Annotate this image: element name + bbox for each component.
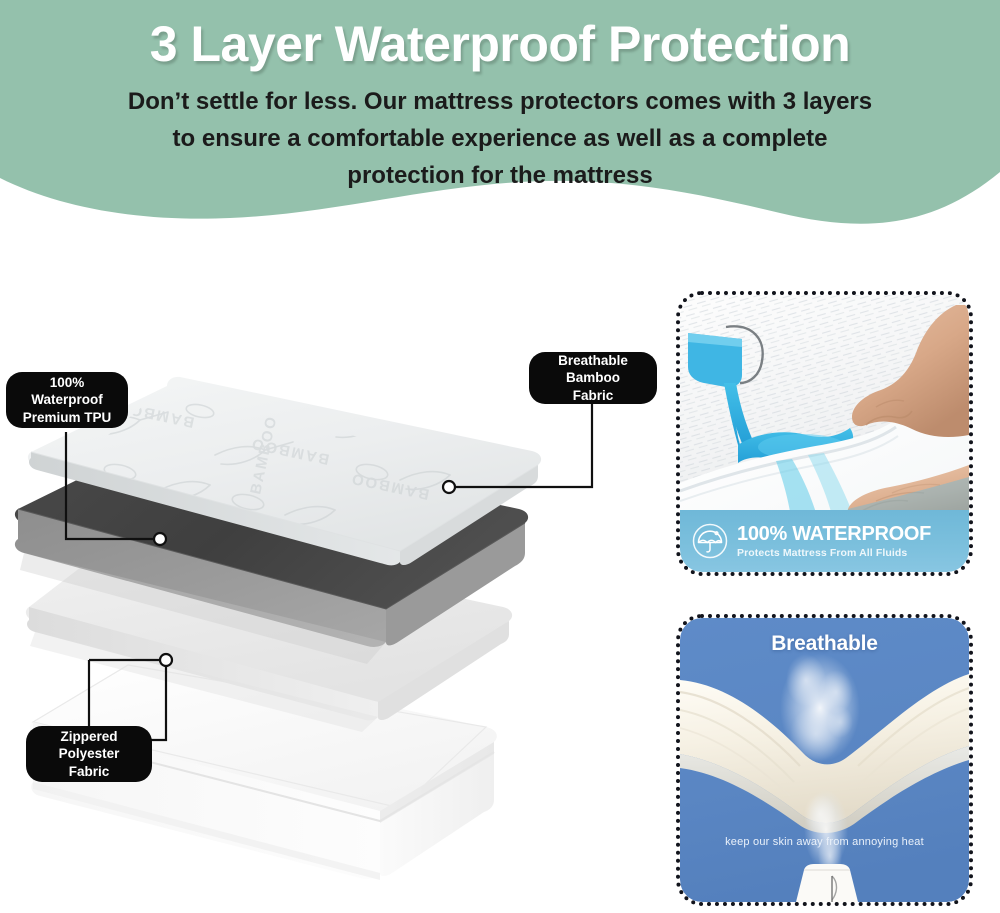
subtitle-line-1: Don’t settle for less. Our mattress prot… xyxy=(70,83,930,120)
anchor-dot-bamboo xyxy=(443,481,455,493)
humidifier-device xyxy=(796,864,858,902)
callout-breathable-bamboo: Breathable Bamboo Fabric xyxy=(529,352,657,404)
layer-stack-illustration: BAMBOO BAMBOO BAMBOO BAMBOO xyxy=(0,240,670,913)
callout-waterproof-tpu: 100% Waterproof Premium TPU xyxy=(6,372,128,428)
anchor-dot-tpu xyxy=(154,533,166,545)
breathable-photo-illustration xyxy=(680,618,969,902)
page-title: 3 Layer Waterproof Protection xyxy=(0,0,1000,71)
breathable-title: Breathable xyxy=(680,632,969,656)
exploded-layer-diagram: BAMBOO BAMBOO BAMBOO BAMBOO xyxy=(0,240,670,913)
header-banner: 3 Layer Waterproof Protection Don’t sett… xyxy=(0,0,1000,225)
umbrella-icon xyxy=(690,510,730,572)
waterproof-banner-subtitle: Protects Mattress From All Fluids xyxy=(737,547,931,559)
subtitle-line-3: protection for the mattress xyxy=(70,157,930,194)
callout-zippered-polyester: Zippered Polyester Fabric xyxy=(26,726,152,782)
waterproof-banner: 100% WATERPROOF Protects Mattress From A… xyxy=(680,510,969,572)
page-subtitle: Don’t settle for less. Our mattress prot… xyxy=(70,71,930,195)
anchor-dot-zip xyxy=(160,654,172,666)
waterproof-demo-panel: 100% WATERPROOF Protects Mattress From A… xyxy=(676,291,973,576)
breathable-demo-panel: Breathable keep our skin away from annoy… xyxy=(676,614,973,906)
subtitle-line-2: to ensure a comfortable experience as we… xyxy=(70,120,930,157)
waterproof-banner-title: 100% WATERPROOF xyxy=(737,524,931,545)
breathable-caption: keep our skin away from annoying heat xyxy=(680,836,969,848)
